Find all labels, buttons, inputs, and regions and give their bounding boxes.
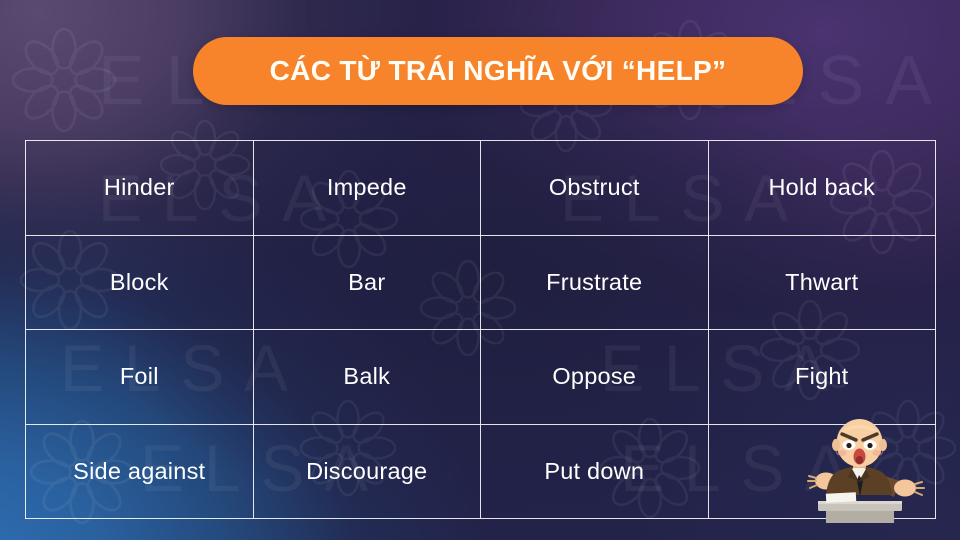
title-pill: CÁC TỪ TRÁI NGHĨA VỚI “HELP” <box>193 37 803 105</box>
table-cell-word: Thwart <box>708 235 936 330</box>
table-cell-word: Bar <box>253 235 481 330</box>
table-row: Side againstDiscouragePut down <box>26 424 936 519</box>
table-cell-word: Foil <box>26 330 254 425</box>
antonym-word-table: HinderImpedeObstructHold backBlockBarFru… <box>25 140 936 519</box>
table-cell-word: Balk <box>253 330 481 425</box>
table-cell-word: Block <box>26 235 254 330</box>
slide-canvas: ELSAELSAELSAELSAELSAELSAELSAELSA CÁC TỪ … <box>0 0 960 540</box>
table-cell-word: Impede <box>253 141 481 236</box>
table-cell-word: Frustrate <box>481 235 709 330</box>
table-row: FoilBalkOpposeFight <box>26 330 936 425</box>
table-cell-word: Hold back <box>708 141 936 236</box>
table-row: BlockBarFrustrateThwart <box>26 235 936 330</box>
table-cell-word: Put down <box>481 424 709 519</box>
table-cell-word: Hinder <box>26 141 254 236</box>
table-cell-word: Oppose <box>481 330 709 425</box>
table-cell-word: Fight <box>708 330 936 425</box>
table-row: HinderImpedeObstructHold back <box>26 141 936 236</box>
table-cell-empty <box>708 424 936 519</box>
table-cell-word: Discourage <box>253 424 481 519</box>
table-cell-word: Obstruct <box>481 141 709 236</box>
table-cell-word: Side against <box>26 424 254 519</box>
page-title: CÁC TỪ TRÁI NGHĨA VỚI “HELP” <box>270 57 727 85</box>
